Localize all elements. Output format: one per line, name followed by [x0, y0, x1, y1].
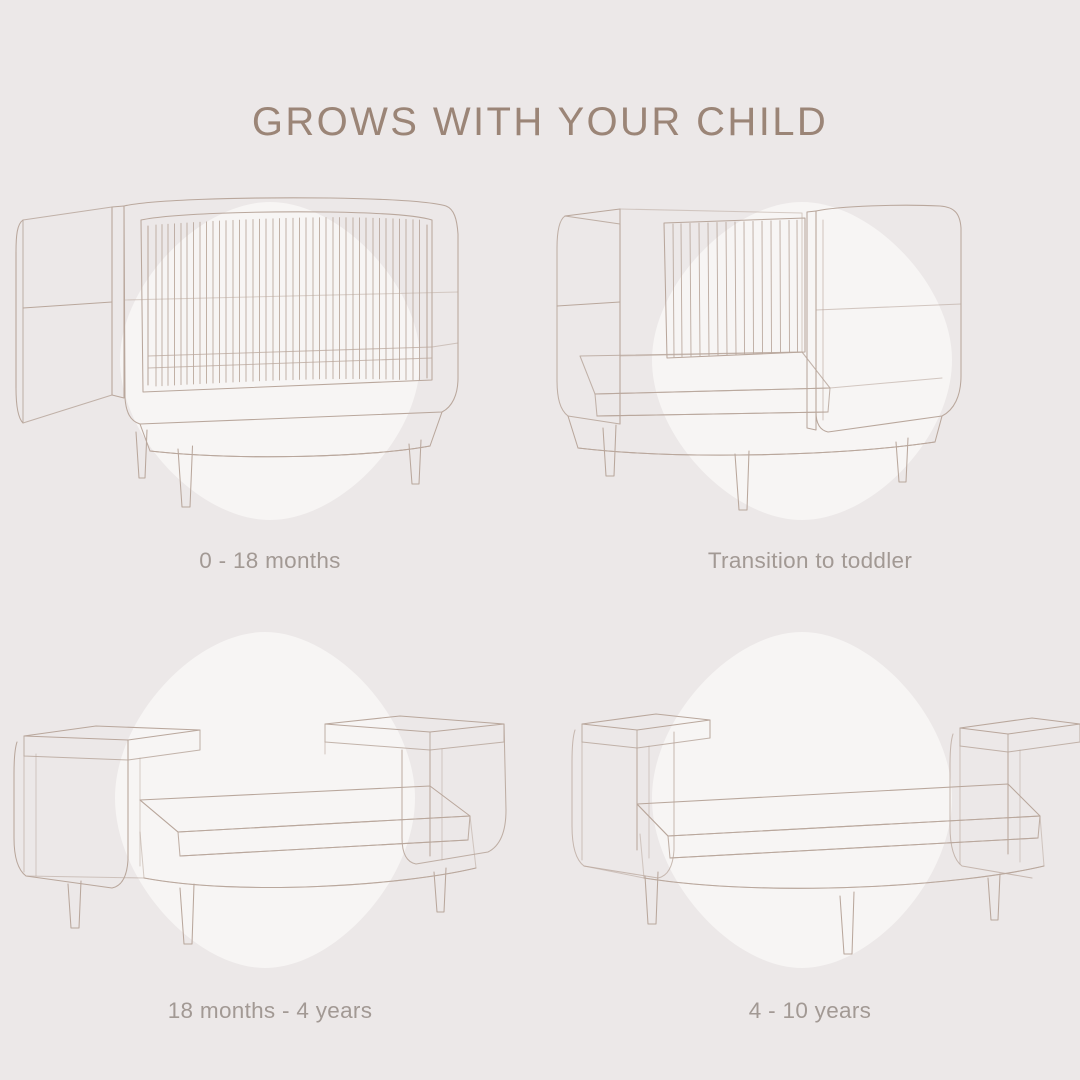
stage-caption-crib: 0 - 18 months — [0, 548, 540, 574]
infographic-page: GROWS WITH YOUR CHILD — [0, 0, 1080, 1080]
background-blob — [652, 632, 952, 968]
stage-caption-day-bed: 4 - 10 years — [540, 998, 1080, 1024]
stage-card-crib[interactable]: 0 - 18 months — [0, 180, 540, 620]
stage-caption-toddler-bed: 18 months - 4 years — [0, 998, 540, 1024]
background-blob — [115, 632, 415, 968]
page-title: GROWS WITH YOUR CHILD — [0, 100, 1080, 145]
crib-illustration — [0, 180, 540, 550]
toddler-bed-illustration — [0, 620, 540, 990]
stage-caption-transition: Transition to toddler — [540, 548, 1080, 574]
stage-card-day-bed[interactable]: 4 - 10 years — [540, 620, 1080, 1060]
stage-grid: 0 - 18 months — [0, 180, 1080, 1060]
day-bed-illustration — [540, 620, 1080, 990]
stage-card-transition[interactable]: Transition to toddler — [540, 180, 1080, 620]
transition-illustration — [540, 180, 1080, 550]
stage-card-toddler-bed[interactable]: 18 months - 4 years — [0, 620, 540, 1060]
background-blob — [120, 202, 420, 520]
